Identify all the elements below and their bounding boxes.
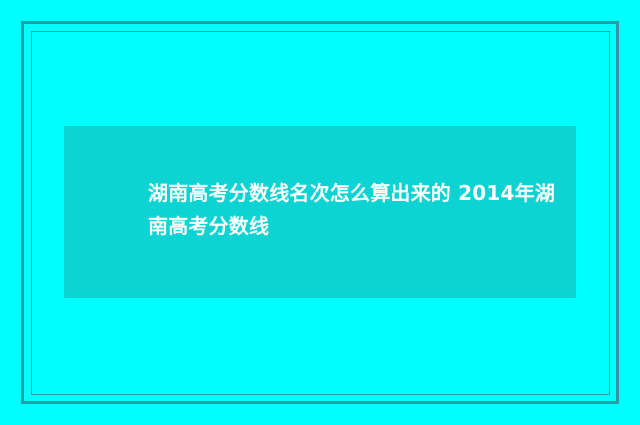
headline-text: 湖南高考分数线名次怎么算出来的 2014年湖南高考分数线: [148, 177, 568, 243]
content-panel: 湖南高考分数线名次怎么算出来的 2014年湖南高考分数线: [64, 126, 576, 298]
poster-canvas: 湖南高考分数线名次怎么算出来的 2014年湖南高考分数线: [0, 0, 640, 425]
